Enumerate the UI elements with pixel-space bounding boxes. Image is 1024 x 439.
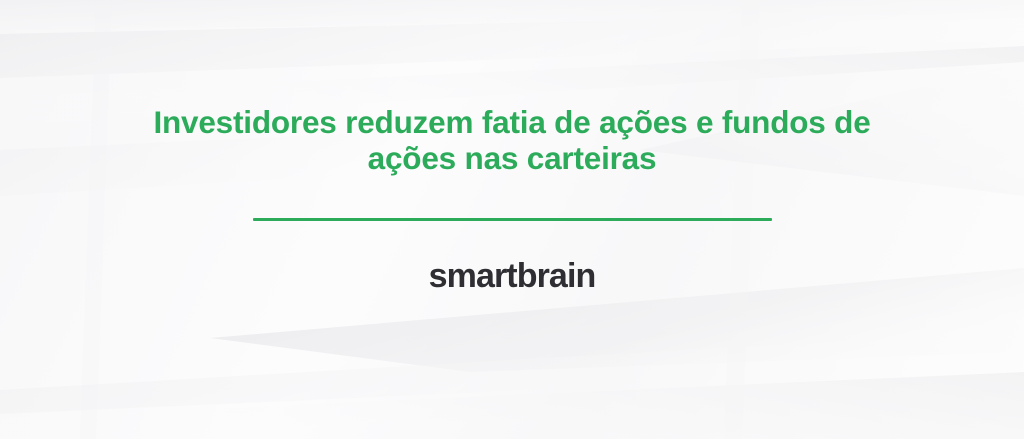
article-banner: Investidores reduzem fatia de ações e fu… xyxy=(0,0,1024,439)
page-title: Investidores reduzem fatia de ações e fu… xyxy=(142,104,882,176)
brand-logo: smartbrain xyxy=(429,257,596,295)
banner-content: Investidores reduzem fatia de ações e fu… xyxy=(0,0,1024,439)
title-divider xyxy=(253,218,772,221)
page-title-line-2: ações nas carteiras xyxy=(142,140,882,176)
page-title-line-1: Investidores reduzem fatia de ações e fu… xyxy=(142,104,882,140)
